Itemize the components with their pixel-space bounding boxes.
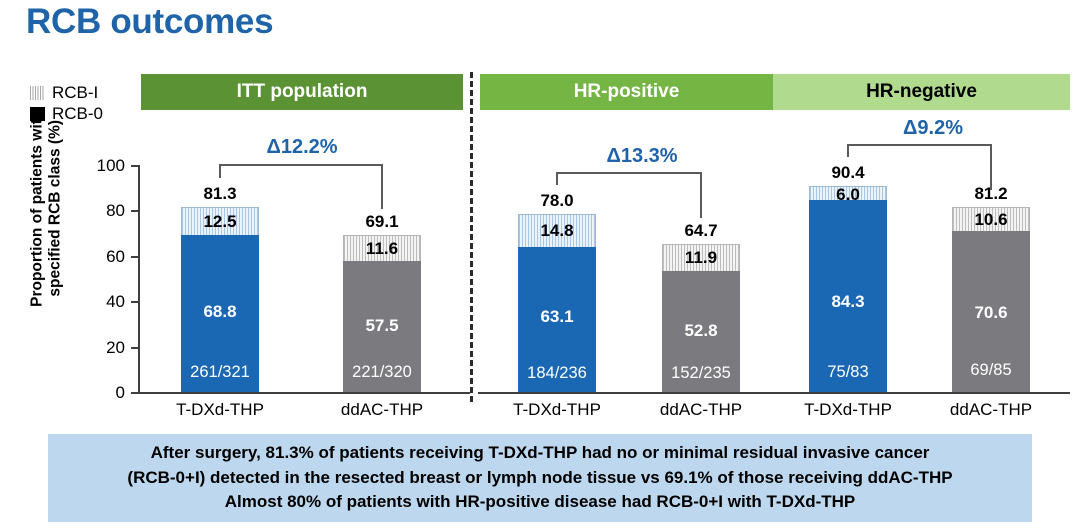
footer-line-3: Almost 80% of patients with HR-positive … xyxy=(225,490,856,515)
segment-rcb0: 84.3 75/83 xyxy=(809,200,887,392)
segment-value-rcb0: 70.6 xyxy=(952,303,1030,323)
delta-label-hrneg: Δ9.2% xyxy=(853,117,1013,140)
segment-rcb0: 57.5 221/320 xyxy=(343,261,421,392)
footer-callout: After surgery, 81.3% of patients receivi… xyxy=(48,434,1032,522)
page-title: RCB outcomes xyxy=(26,2,273,42)
x-label-hrneg-ddac: ddAC-THP xyxy=(926,400,1056,420)
panel-header-itt: ITT population xyxy=(141,74,463,110)
segment-rcb0: 68.8 261/321 xyxy=(181,235,259,392)
delta-bracket-right-leg-hrneg xyxy=(990,144,992,190)
footer-line-1: After surgery, 81.3% of patients receivi… xyxy=(151,441,930,466)
bar-total-itt-tdxd: 81.3 xyxy=(175,184,265,204)
delta-bracket-left-leg-hrpos xyxy=(556,172,558,185)
segment-rcb1: 12.5 xyxy=(181,207,259,236)
delta-bracket-left-leg-hrneg xyxy=(847,144,849,157)
segment-value-rcb0: 68.8 xyxy=(181,302,259,322)
y-tick-label-100: 100 xyxy=(85,156,125,176)
delta-label-itt: Δ12.2% xyxy=(222,136,382,159)
bar-hrpos-tdxd: 14.8 63.1 184/236 xyxy=(518,214,596,392)
bar-total-hrpos-tdxd: 78.0 xyxy=(512,191,602,211)
delta-label-hrpos: Δ13.3% xyxy=(562,145,722,168)
segment-value-rcb0: 84.3 xyxy=(809,292,887,312)
y-tick-0 xyxy=(131,392,139,394)
segment-rcb1: 11.6 xyxy=(343,235,421,262)
segment-value-rcb1: 12.5 xyxy=(182,212,258,232)
segment-rcb1: 11.9 xyxy=(662,244,740,272)
panel-divider xyxy=(470,72,473,402)
x-label-hrpos-tdxd: T-DXd-THP xyxy=(492,400,622,420)
segment-denominator: 184/236 xyxy=(518,364,596,383)
segment-denominator: 69/85 xyxy=(952,361,1030,380)
panel-header-hr-negative: HR-negative xyxy=(773,74,1070,110)
delta-bracket-left-leg-itt xyxy=(219,164,221,178)
y-tick-label-0: 0 xyxy=(85,383,125,403)
bar-total-itt-ddac: 69.1 xyxy=(337,212,427,232)
y-tick-label-40: 40 xyxy=(85,292,125,312)
y-tick-label-20: 20 xyxy=(85,338,125,358)
y-tick-20 xyxy=(131,347,139,349)
y-tick-label-60: 60 xyxy=(85,247,125,267)
segment-rcb0: 63.1 184/236 xyxy=(518,247,596,392)
y-axis-title-line2: specified RCB class (%) xyxy=(47,120,64,297)
y-tick-40 xyxy=(131,301,139,303)
delta-bracket-top-hrpos xyxy=(556,172,702,174)
bar-itt-tdxd: 12.5 68.8 261/321 xyxy=(181,207,259,392)
bar-hrneg-tdxd: 6.0 84.3 75/83 xyxy=(809,186,887,392)
segment-rcb1: 10.6 xyxy=(952,207,1030,232)
x-label-itt-ddac: ddAC-THP xyxy=(317,400,447,420)
x-axis-line-left xyxy=(138,392,470,394)
slide-root: RCB outcomes RCB-I RCB-0 ITT population … xyxy=(0,0,1080,530)
segment-value-rcb1: 14.8 xyxy=(519,221,595,241)
panel-header-hr-positive: HR-positive xyxy=(480,74,773,110)
y-axis-line xyxy=(138,165,140,394)
segment-value-rcb1: 11.6 xyxy=(344,239,420,259)
y-tick-label-80: 80 xyxy=(85,201,125,221)
delta-bracket-right-leg-itt xyxy=(381,164,383,209)
x-label-hrneg-tdxd: T-DXd-THP xyxy=(783,400,913,420)
segment-denominator: 152/235 xyxy=(662,364,740,383)
segment-denominator: 261/321 xyxy=(181,363,259,382)
y-tick-60 xyxy=(131,256,139,258)
segment-denominator: 221/320 xyxy=(343,363,421,382)
x-axis-line-right xyxy=(478,392,1070,394)
segment-value-rcb1: 10.6 xyxy=(953,210,1029,230)
y-tick-80 xyxy=(131,210,139,212)
segment-value-rcb0: 52.8 xyxy=(662,321,740,341)
y-axis-title: Proportion of patients with specified RC… xyxy=(29,93,66,323)
segment-rcb0: 52.8 152/235 xyxy=(662,271,740,392)
footer-line-2: (RCB-0+I) detected in the resected breas… xyxy=(127,466,952,491)
segment-rcb1: 6.0 xyxy=(809,186,887,201)
segment-value-rcb0: 57.5 xyxy=(343,316,421,336)
delta-bracket-top-itt xyxy=(219,164,383,166)
bar-total-hrneg-tdxd: 90.4 xyxy=(803,163,893,183)
bar-hrpos-ddac: 11.9 52.8 152/235 xyxy=(662,244,740,392)
bar-hrneg-ddac: 10.6 70.6 69/85 xyxy=(952,207,1030,392)
segment-rcb1: 14.8 xyxy=(518,214,596,248)
x-label-itt-tdxd: T-DXd-THP xyxy=(155,400,285,420)
y-axis-title-line1: Proportion of patients with xyxy=(29,110,46,307)
y-tick-100 xyxy=(131,165,139,167)
segment-value-rcb0: 63.1 xyxy=(518,307,596,327)
delta-bracket-top-hrneg xyxy=(847,144,992,146)
segment-value-rcb1: 11.9 xyxy=(663,248,739,268)
bar-itt-ddac: 11.6 57.5 221/320 xyxy=(343,235,421,392)
segment-denominator: 75/83 xyxy=(809,363,887,382)
x-label-hrpos-ddac: ddAC-THP xyxy=(636,400,766,420)
bar-total-hrpos-ddac: 64.7 xyxy=(656,221,746,241)
delta-bracket-right-leg-hrpos xyxy=(700,172,702,218)
segment-rcb0: 70.6 69/85 xyxy=(952,231,1030,392)
